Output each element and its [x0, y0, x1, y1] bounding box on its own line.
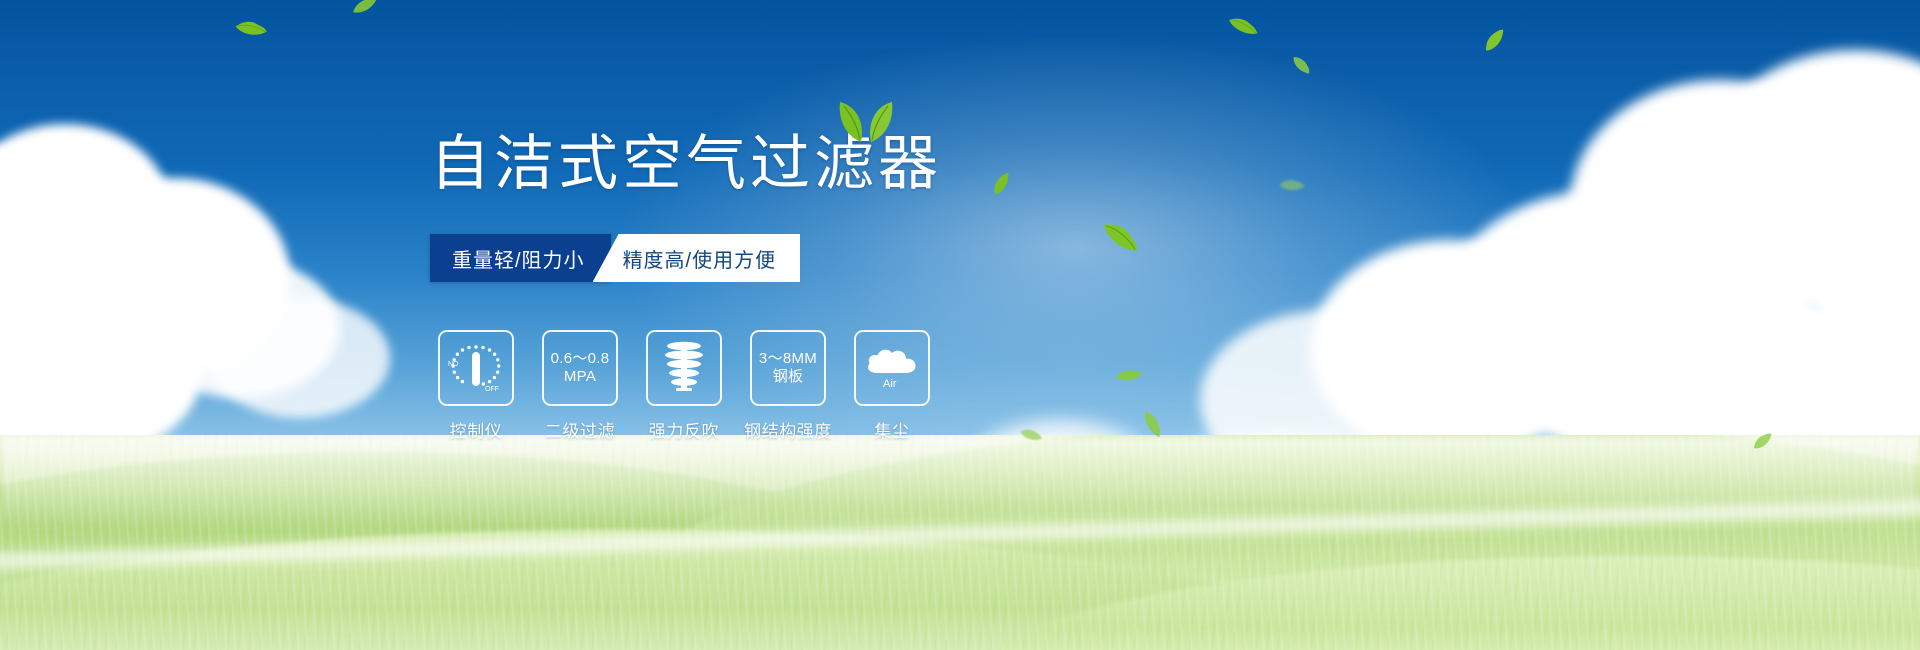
tag-precision-convenience[interactable]: 精度高/使用方便: [593, 234, 801, 282]
feature-label: 钢结构强度: [744, 417, 832, 442]
feature-label: 二级过滤: [545, 417, 615, 442]
feature-label: 集尘: [874, 417, 909, 442]
svg-text:Air: Air: [883, 378, 897, 390]
pressure-value-icon: 0.6～0.8 MPA: [551, 350, 610, 387]
tag-label: 重量轻/阻力小: [452, 244, 585, 273]
feature-item-reverse-blow[interactable]: 强力反吹: [646, 330, 722, 442]
sprout-leaves-icon: [834, 96, 898, 147]
steel-material: 钢板: [759, 368, 817, 386]
feature-item-secondary-filter[interactable]: 0.6～0.8 MPA 二级过滤: [542, 330, 618, 442]
feature-icon-box: [646, 330, 722, 406]
feature-icon-box: 3～8MM 钢板: [750, 330, 826, 406]
svg-text:OFF: OFF: [485, 386, 499, 393]
steel-plate-thickness-icon: 3～8MM 钢板: [759, 350, 817, 387]
product-hero-banner: 自洁式空气过滤器 重量轻/阻力小 精度高/使用方便: [0, 0, 1920, 650]
feature-icon-box: Air: [854, 330, 930, 406]
feature-item-steel-strength[interactable]: 3～8MM 钢板 钢结构强度: [750, 330, 826, 442]
feature-item-dust-collection[interactable]: Air 集尘: [854, 330, 930, 442]
pressure-unit: MPA: [551, 368, 610, 386]
tag-row: 重量轻/阻力小 精度高/使用方便: [430, 234, 800, 282]
air-cloud-dust-icon: Air: [861, 339, 923, 397]
reverse-blow-filter-icon: [656, 339, 712, 397]
feature-label: 控制仪: [450, 417, 503, 442]
pressure-range: 0.6～0.8: [551, 350, 610, 368]
feature-icon-box: NO OFF: [438, 330, 514, 406]
title-block: 自洁式空气过滤器: [430, 134, 942, 194]
banner-content: 自洁式空气过滤器 重量轻/阻力小 精度高/使用方便: [0, 0, 1920, 650]
feature-icon-box: 0.6～0.8 MPA: [542, 330, 618, 406]
svg-text:NO: NO: [448, 361, 459, 368]
tag-label: 精度高/使用方便: [623, 244, 777, 273]
pressure-gauge-dial-icon: NO OFF: [445, 339, 507, 397]
feature-item-controller[interactable]: NO OFF 控制仪: [438, 330, 514, 442]
feature-icon-row: NO OFF 控制仪 0.6～0.8 MPA 二级过滤: [438, 330, 930, 442]
feature-label: 强力反吹: [649, 417, 719, 442]
steel-thickness: 3～8MM: [759, 350, 817, 368]
tag-weight-resistance[interactable]: 重量轻/阻力小: [430, 234, 611, 282]
